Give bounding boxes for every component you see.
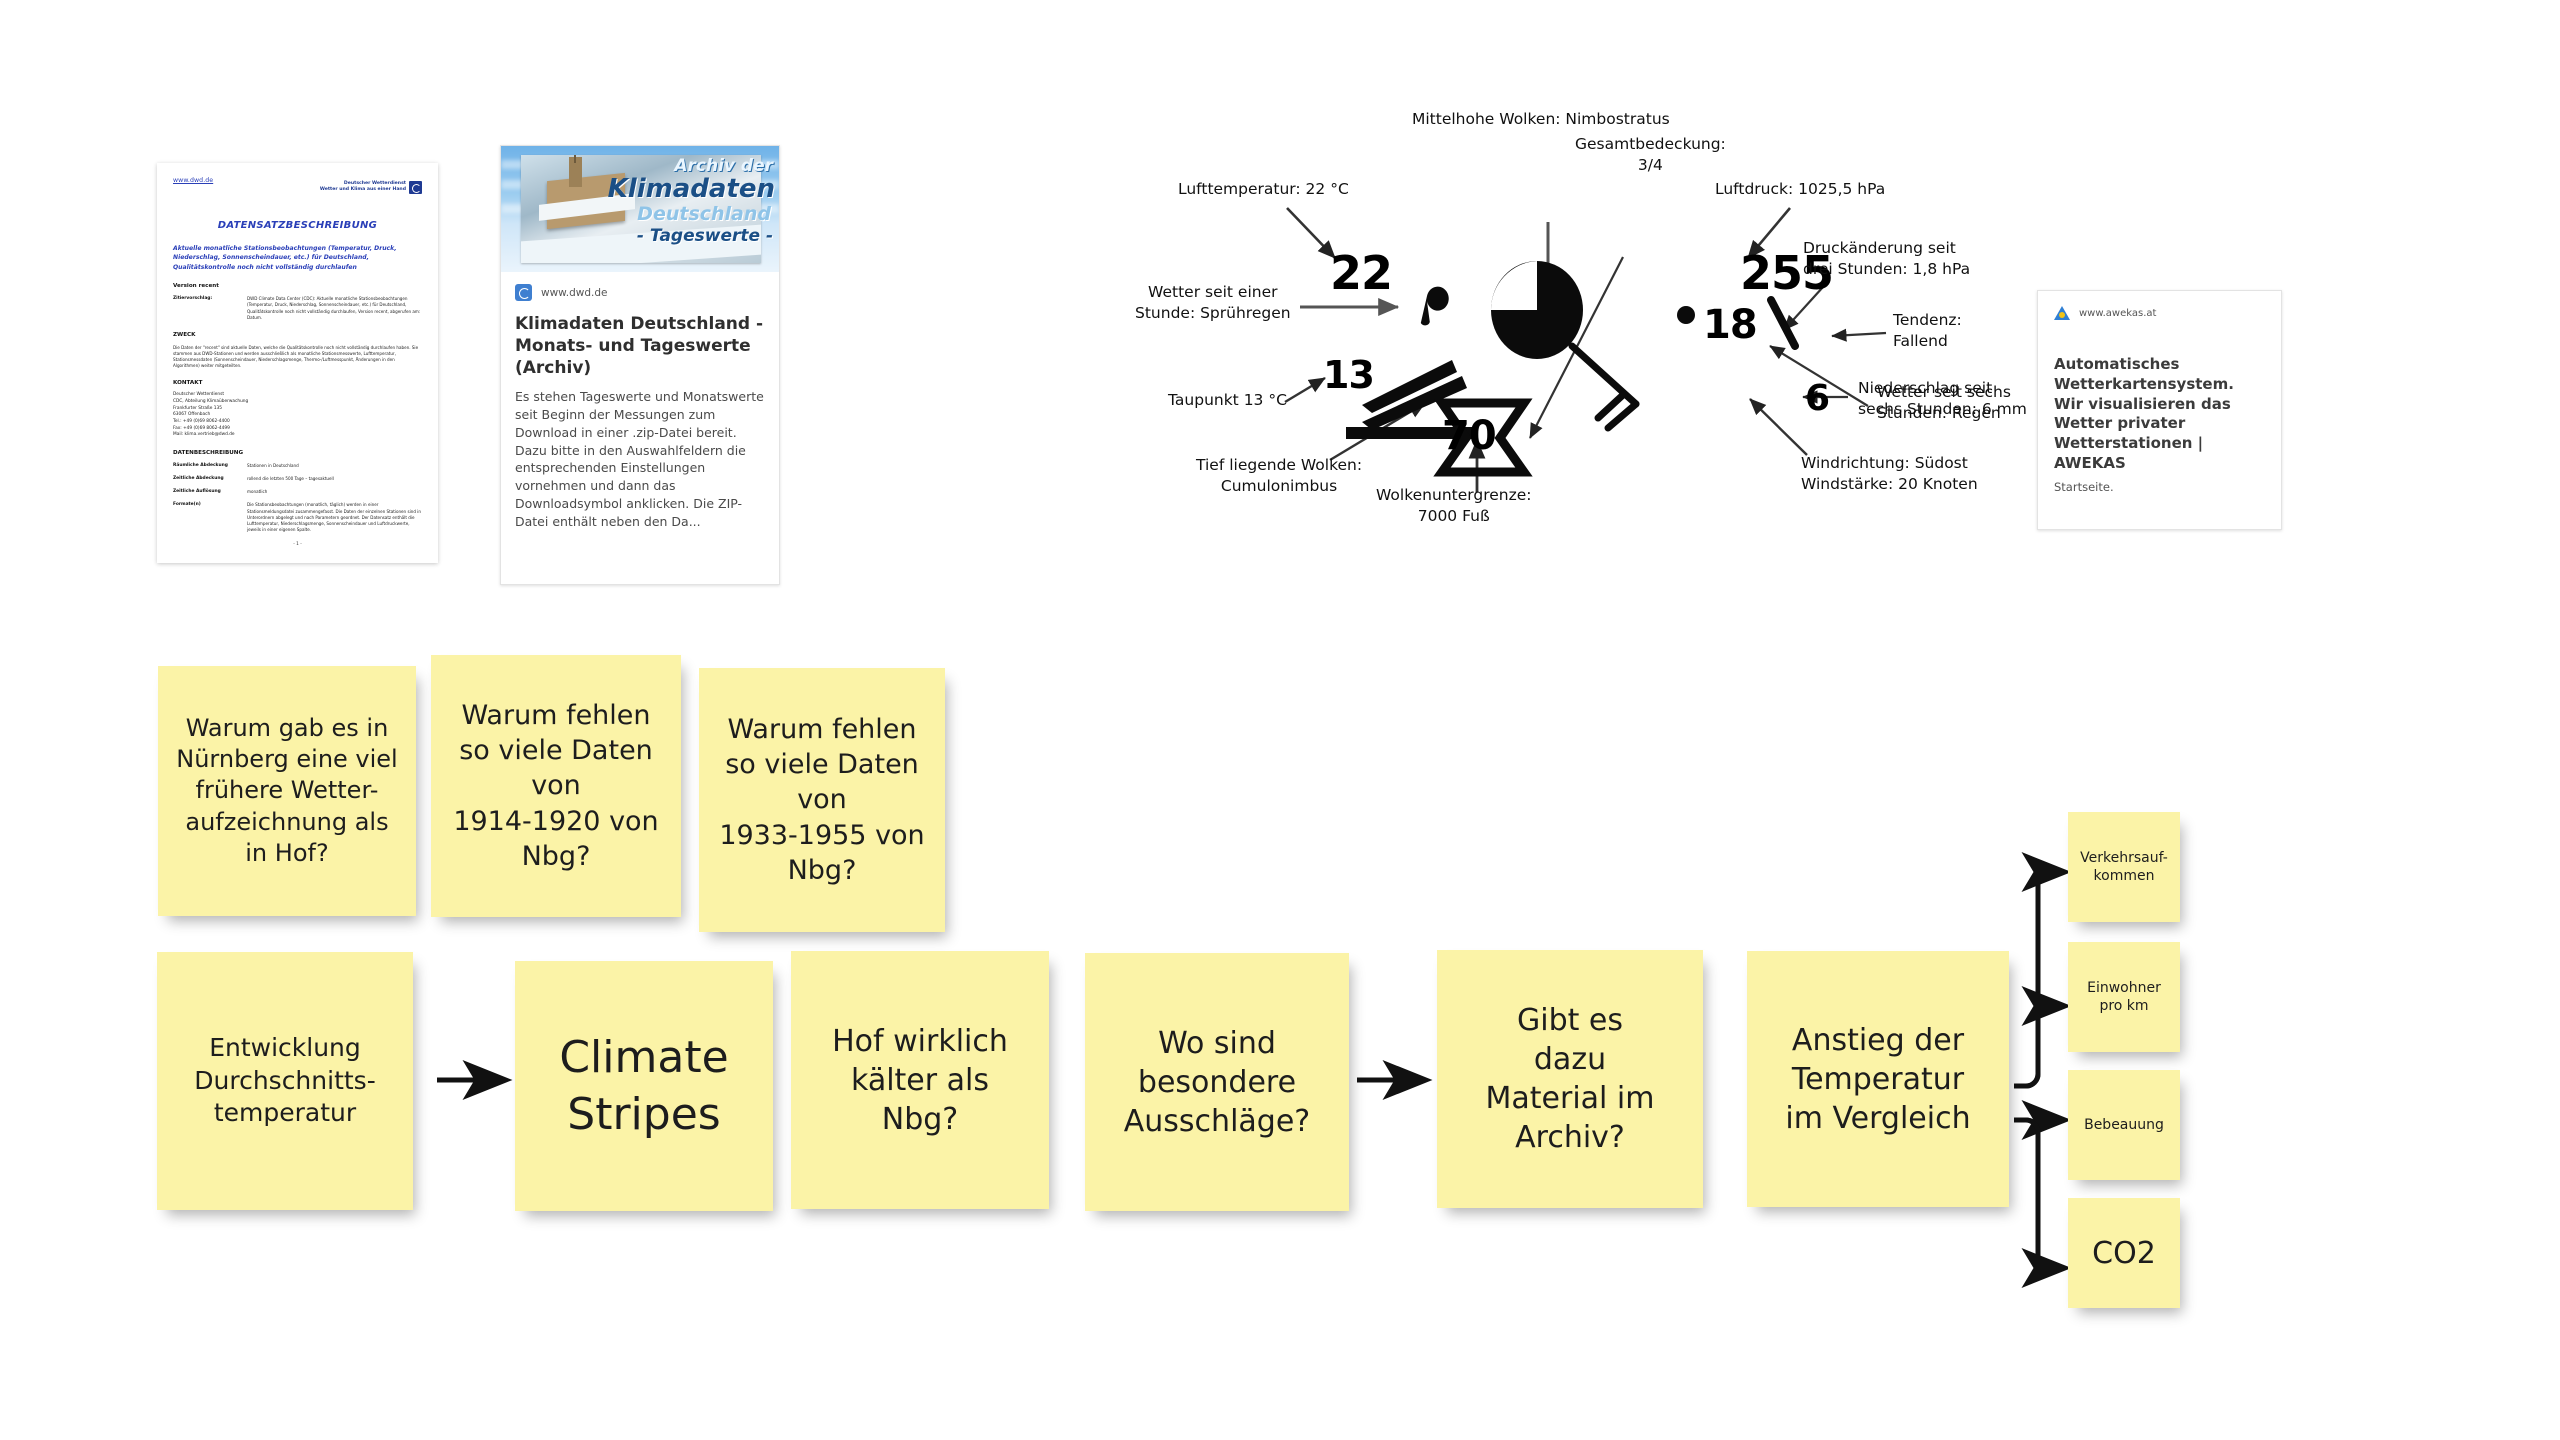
note-co2[interactable]: CO2 [2068,1198,2180,1308]
station-label-mid-clouds: Mittelhohe Wolken: Nimbostratus [1412,109,1670,130]
station-label-pressure-change: Druckänderung seit drei Stunden: 1,8 hPa [1803,238,1970,280]
sticky-note-text: Einwohner pro km [2087,979,2161,1015]
leader-temperature [1287,208,1335,258]
rain-dot-icon [1677,306,1695,324]
station-label-pressure: Luftdruck: 1025,5 hPa [1715,179,1885,200]
bracket-to-verkehr [2014,872,2064,1086]
pdf-data-row: Räumliche Abdeckung Stationen in Deutsch… [173,463,422,469]
sticky-note-text: Warum fehlen so viele Daten von 1933-195… [719,712,924,887]
dwd-card-description: Es stehen Tageswerte und Monatswerte sei… [515,388,765,530]
pdf-zweck-text: Die Daten der "recent" sind aktuelle Dat… [173,345,422,370]
sticky-note-text: Warum gab es in Nürnberg eine viel frühe… [176,713,397,869]
note-nuernberg-hof[interactable]: Warum gab es in Nürnberg eine viel frühe… [158,666,416,916]
dwd-card-source-row: www.dwd.de [515,284,765,301]
dwd-logo: Deutscher Wetterdienst Wetter und Klima … [320,181,422,194]
sticky-note-text: Hof wirklich kälter als Nbg? [832,1022,1008,1139]
station-label-precip-6h: Niederschlag seit sechs Stunden: 6 mm [1858,378,2027,420]
pdf-data-key: Räumliche Abdeckung [173,463,239,469]
bracket-to-co2 [2014,1120,2064,1268]
station-label-temperature: Lufttemperatur: 22 °C [1178,179,1349,200]
station-label-tendency: Tendenz: Fallend [1893,310,1962,352]
sticky-note-text: Climate Stripes [559,1029,728,1143]
station-value-dewpoint: 13 [1323,353,1374,397]
bracket-to-einwohner [2014,1006,2064,1086]
sticky-note-text: Anstieg der Temperatur im Vergleich [1785,1021,1970,1138]
note-bebauung[interactable]: Bebeauung [2068,1070,2180,1180]
pdf-data-row: Formate(n) Die Stationsbeobachtungen (mo… [173,502,422,533]
bracket-to-bebauung [2014,1120,2064,1132]
note-climate-stripes[interactable]: Climate Stripes [515,961,773,1211]
dwd-card-source: www.dwd.de [541,287,608,299]
dwd-logo-icon [409,181,422,194]
hero-text-line1: Archiv der [674,156,773,176]
station-label-low-clouds: Tief liegende Wolken: Cumulonimbus [1196,455,1362,497]
pdf-data-value: Die Stationsbeobachtungen (monatlich, tä… [247,502,422,533]
sticky-note-text: Gibt es dazu Material im Archiv? [1486,1001,1655,1157]
weather-station-diagram: 22 255 18 13 70 6 Mittelhohe Wolken: Nim… [1180,150,2270,870]
pdf-data-row: Zeitliche Auflösung monatlich [173,489,422,495]
sticky-note-text: Entwicklung Durchschnitts- temperatur [194,1032,375,1130]
sticky-note-text: Bebeauung [2084,1116,2164,1134]
note-hof-kaelter[interactable]: Hof wirklich kälter als Nbg? [791,951,1049,1209]
sticky-note-text: CO2 [2092,1234,2156,1273]
station-label-wind: Windrichtung: Südost Windstärke: 20 Knot… [1801,453,1978,495]
leader-dewpoint [1285,378,1325,402]
note-daten-1933[interactable]: Warum fehlen so viele Daten von 1933-195… [699,668,945,932]
pdf-section-zweck: ZWECK [173,332,422,338]
sticky-note-text: Verkehrsauf- kommen [2080,849,2168,885]
dwd-link-card[interactable]: Archiv der Klimadaten Deutschland - Tage… [500,145,780,585]
station-label-dewpoint: Taupunkt 13 °C [1168,390,1287,411]
pdf-data-key: Zeitliche Abdeckung [173,476,239,482]
station-label-cloud-base: Wolkenuntergrenze: 7000 Fuß [1376,485,1531,527]
hero-text-line2: Klimadaten [608,174,775,204]
pdf-kontakt-lines: Deutscher Wetterdienst CDC, Abteilung Kl… [173,392,422,439]
note-ausschlaege[interactable]: Wo sind besondere Ausschläge? [1085,953,1349,1211]
dwd-favicon-icon [515,284,532,301]
hero-text-line3: Deutschland [637,203,771,225]
pdf-title: DATENSATZBESCHREIBUNG [173,220,422,231]
pdf-section-kontakt: KONTAKT [173,380,422,386]
station-value-temperature: 22 [1330,246,1392,300]
station-label-total-cover: Gesamtbedeckung: 3/4 [1575,134,1726,176]
wind-barb-icon [1572,346,1636,428]
pdf-subtitle: Aktuelle monatliche Stationsbeobachtunge… [173,244,422,272]
dwd-card-title: Klimadaten Deutschland - Monats- und Tag… [515,313,765,379]
leader-tendency [1832,333,1886,336]
pdf-data-value: monatlich [247,489,422,495]
leader-wind [1750,399,1807,455]
pdf-citation-key: Zitiervorschlag: [173,296,239,321]
pdf-version: Version recent [173,283,422,289]
pdf-data-value: Stationen in Deutschland [247,463,422,469]
hero-text-line4: - Tageswerte - [637,226,773,246]
station-value-precip: 6 [1805,378,1829,419]
note-verkehr[interactable]: Verkehrsauf- kommen [2068,812,2180,922]
note-entwicklung[interactable]: Entwicklung Durchschnitts- temperatur [157,952,413,1210]
pdf-data-row: Zeitliche Abdeckung rollend die letzten … [173,476,422,482]
note-daten-1914[interactable]: Warum fehlen so viele Daten von 1914-192… [431,655,681,917]
note-anstieg-vergleich[interactable]: Anstieg der Temperatur im Vergleich [1747,951,2009,1207]
note-archiv-material[interactable]: Gibt es dazu Material im Archiv? [1437,950,1703,1208]
station-value-pressure-change: 18 [1703,302,1757,348]
dwd-card-hero-image: Archiv der Klimadaten Deutschland - Tage… [501,146,779,272]
pdf-data-key: Zeitliche Auflösung [173,489,239,495]
dwd-datasheet-thumbnail[interactable]: www.dwd.de Deutscher Wetterdienst Wetter… [157,163,438,563]
pdf-page-number: - 1 - [173,542,422,547]
pdf-section-datenbeschreibung: DATENBESCHREIBUNG [173,450,422,456]
sticky-note-text: Wo sind besondere Ausschläge? [1124,1024,1310,1141]
station-value-cloud-base: 70 [1442,413,1496,459]
station-label-weather-1h: Wetter seit einer Stunde: Sprühregen [1135,282,1291,324]
note-einwohner[interactable]: Einwohner pro km [2068,942,2180,1052]
pdf-citation-value: DWD Climate Data Center (CDC): Aktuelle … [247,296,422,321]
drizzle-comma-icon [1421,287,1449,326]
pdf-data-value: rollend die letzten 500 Tage – tagesaktu… [247,476,422,482]
pdf-data-key: Formate(n) [173,502,239,533]
dwd-org-line2: Wetter und Klima aus einer Hand [320,187,406,193]
pdf-citation-row: Zitiervorschlag: DWD Climate Data Center… [173,296,422,321]
sticky-note-text: Warum fehlen so viele Daten von 1914-192… [453,698,658,873]
